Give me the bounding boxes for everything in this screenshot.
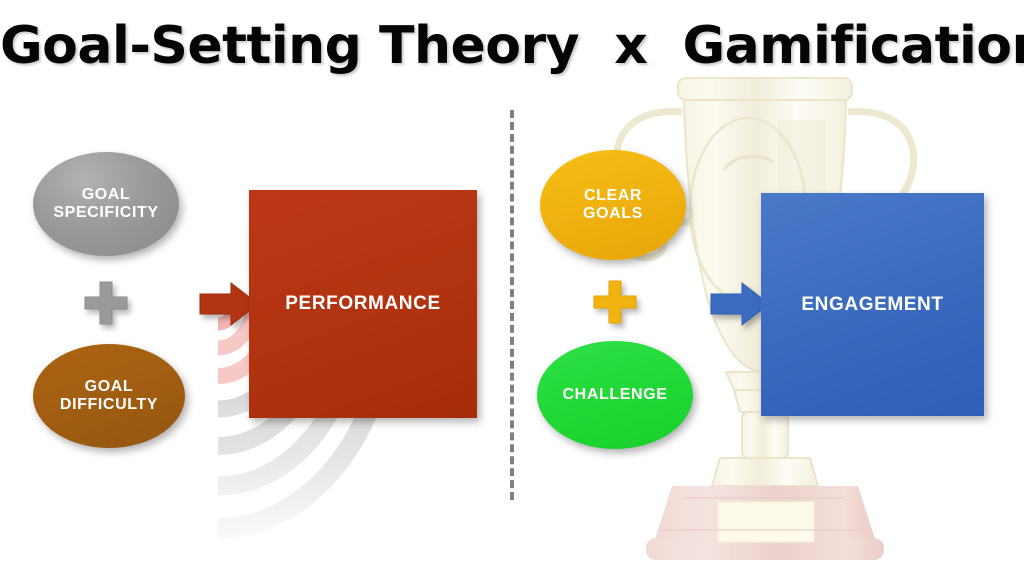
node-goal-specificity[interactable]: GOAL SPECIFICITY [33, 152, 179, 256]
node-engagement[interactable]: ENGAGEMENT [761, 193, 984, 416]
vertical-dashed-divider [510, 110, 514, 500]
node-clear-goals[interactable]: CLEAR GOALS [540, 150, 686, 260]
node-engagement-label: ENGAGEMENT [801, 294, 943, 316]
node-performance[interactable]: PERFORMANCE [249, 190, 477, 418]
node-goal-specificity-label: GOAL SPECIFICITY [53, 186, 158, 223]
node-goal-difficulty[interactable]: GOAL DIFFICULTY [33, 344, 185, 448]
node-challenge[interactable]: CHALLENGE [537, 341, 693, 449]
node-performance-label: PERFORMANCE [285, 293, 440, 315]
plus-icon [592, 279, 638, 325]
node-goal-difficulty-label: GOAL DIFFICULTY [60, 378, 158, 415]
node-challenge-label: CHALLENGE [563, 386, 668, 404]
slide-canvas: Goal-Setting Theory x Gamification [0, 0, 1024, 569]
node-clear-goals-label: CLEAR GOALS [583, 187, 643, 224]
plus-icon [83, 280, 129, 326]
page-title: Goal-Setting Theory x Gamification [0, 16, 1024, 76]
